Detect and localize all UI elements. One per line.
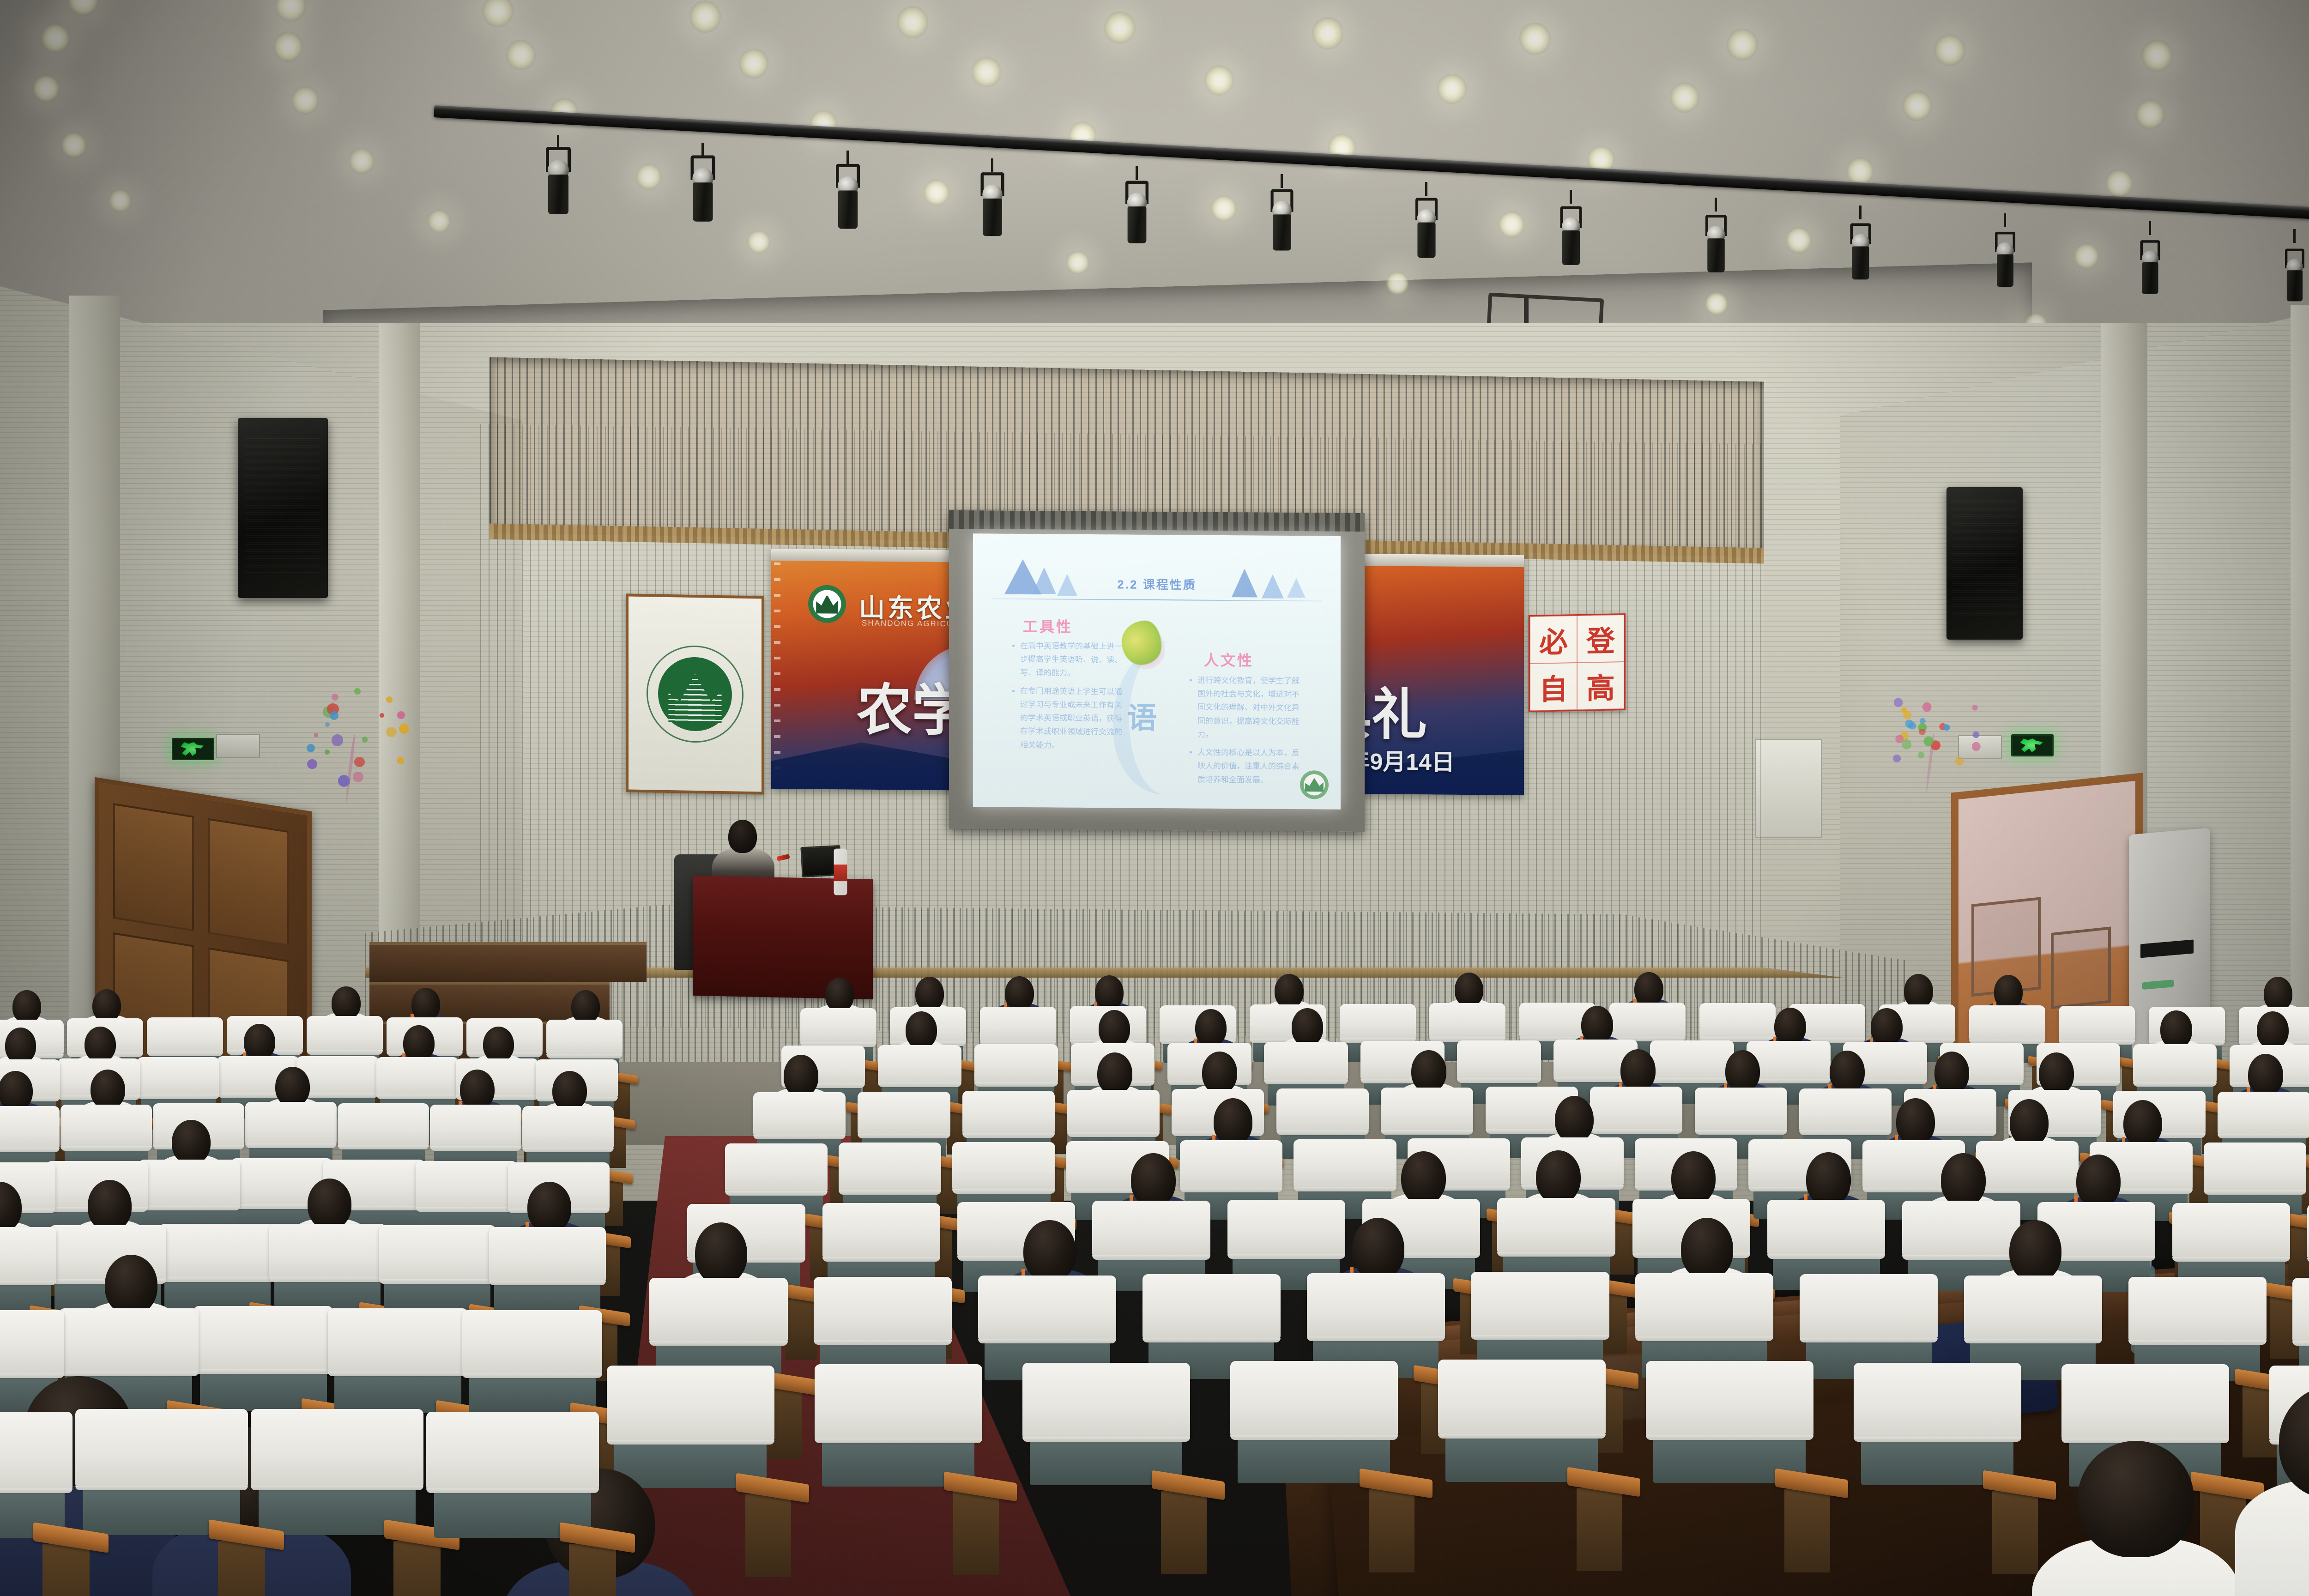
audience-member-head [2010,1099,2049,1146]
stage-spotlight-icon [1995,231,2016,288]
emblem-disc [658,657,732,732]
seat-white-cover [193,1306,333,1371]
recessed-downlight-icon [747,230,770,254]
audience-member-head [1581,1006,1613,1044]
recessed-downlight-icon [1670,82,1699,113]
recessed-downlight-icon [1934,34,1965,66]
seat-white-cover [0,1310,64,1375]
seat-white-cover [1646,1361,1813,1437]
speaker-grille [245,432,321,573]
spotlight-barrel [983,199,1002,236]
auditorium-seat[interactable] [1861,1370,2013,1485]
decorative-wall-art-left [296,683,411,804]
wall-art-dot [1972,705,1978,711]
wall-art-dot [307,759,317,769]
bottle-label [834,864,847,881]
seat-white-cover [269,1224,386,1279]
seat-white-cover [245,1102,337,1145]
audience-member-head [5,1028,36,1064]
auditorium-seat[interactable] [0,1419,65,1538]
wall-art-dot [354,757,365,768]
seat-support-column [1369,1489,1414,1572]
seat-white-cover [649,1278,787,1343]
auditorium-seat[interactable] [259,1416,416,1535]
seat-white-cover [1800,1274,1938,1339]
wall-art-dot [1922,702,1932,712]
recessed-downlight-icon [1211,195,1237,222]
audience-member-head [2257,1011,2289,1049]
audience-member-head [1941,1153,1986,1206]
audience-member-head [527,1182,572,1233]
seat-white-cover [379,1225,496,1281]
wall-art-dot [325,750,330,755]
spotlight-barrel [1997,254,2013,286]
audience-member-head [1411,1050,1446,1092]
audience-member-head [915,977,944,1011]
seat-white-cover [1142,1274,1281,1339]
seat-white-cover [1767,1200,1885,1256]
recessed-downlight-icon [1204,65,1234,96]
spotlight-barrel [838,190,857,229]
seat-white-cover [1429,1003,1505,1039]
emblem-mountain-glyph [816,594,838,613]
seat-white-cover [1227,1200,1345,1256]
door-panel [113,803,194,931]
audience-member-head [85,1027,115,1063]
recessed-downlight-icon [61,132,87,158]
spotlight-barrel [1128,206,1147,243]
seat-support-column [1992,1491,2038,1574]
spotlight-barrel [1707,238,1725,272]
audience-member-head [2039,1052,2074,1094]
audience-member-head [1634,972,1663,1006]
spotlight-barrel [1562,230,1580,265]
seat-white-cover [338,1103,429,1147]
auditorium-seat[interactable] [83,1416,240,1535]
seat-white-cover [2133,1044,2217,1084]
seat-white-cover [878,1045,962,1085]
recessed-downlight-icon [41,23,70,54]
seat-white-cover [1497,1198,1615,1254]
wall-art-dot [1955,757,1964,766]
seat-white-cover [962,1091,1055,1135]
recessed-downlight-icon [2135,99,2165,130]
recessed-downlight-icon [897,6,928,38]
spotlight-hanger [2149,221,2151,235]
audience-member-head [1455,973,1483,1007]
stage-spotlight-icon [690,155,716,223]
seat-white-cover [2218,1092,2309,1136]
spotlight-hanger [1859,206,1862,219]
seat-white-cover [251,1409,423,1487]
audience-member-head [1023,1220,1076,1282]
stage-spotlight-icon [1414,198,1439,260]
seat-white-cover [489,1227,606,1282]
seat-white-cover [60,1105,152,1148]
slide-section-number: 2.2 [1117,577,1138,591]
wall-art-dot [362,737,368,742]
spotlight-hanger [1425,182,1427,196]
seat-white-cover [1457,1040,1541,1080]
seat-white-cover [462,1310,602,1375]
auditorium-seat[interactable] [334,1314,461,1413]
wall-art-dot [332,734,343,746]
recessed-downlight-icon [1104,12,1136,44]
seat-white-cover [1264,1042,1348,1082]
seat-support-column [1577,1488,1622,1571]
auditorium-seat[interactable] [164,1229,271,1313]
spotlight-hanger [2004,213,2006,227]
banner-eyelets [774,562,780,780]
spotlight-barrel [1273,214,1291,250]
spotlight-hanger [991,158,993,172]
audience-member-head [1994,975,2023,1009]
seat-white-cover [1092,1201,1210,1257]
recessed-downlight-icon [2141,40,2173,72]
seat-white-cover [980,1007,1056,1043]
wall-art-dot [397,757,404,764]
stage-spotlight-icon [835,164,861,231]
recessed-downlight-icon [291,86,319,115]
wall-art-dot [314,733,319,738]
audience-member-head [1275,974,1303,1008]
audience-member-head [1830,1051,1865,1093]
seat-white-cover [952,1142,1055,1191]
slide-section-title: 课程性质 [1143,578,1197,592]
stage-spotlight-icon [545,147,572,216]
audience-member-head [1725,1050,1760,1092]
wall-art-dot [1901,707,1907,713]
audience-member-head [1352,1218,1404,1280]
emblem-outer-ring [647,645,743,744]
slide-bullets-left: 在高中英语教学的基础上进一步提高学生英语听、说、读、写、译的能力。 在专门用途英… [1012,639,1123,757]
spotlight-hanger [1281,174,1283,188]
seat-white-cover [607,1366,774,1442]
seat-white-cover [75,1409,248,1487]
audience-member-head [1131,1153,1176,1206]
seat-white-cover [1799,1088,1892,1133]
audience-member-head [411,988,440,1021]
audience-member-head [552,1071,587,1111]
seat-white-cover [1340,1004,1416,1040]
seat-white-cover [2204,1143,2306,1192]
presenter-head [728,820,757,853]
stage-spotlight-icon [1850,223,1872,281]
audience-member-head [1095,975,1124,1010]
recessed-downlight-icon [1903,91,1932,121]
audience-member-head [244,1024,275,1060]
audience-member-head [1005,976,1034,1010]
slide-bullet: 在高中英语教学的基础上进一步提高学生英语听、说、读、写、译的能力。 [1020,639,1123,680]
seat-white-cover [522,1106,614,1149]
presentation-slide: 2.2 课程性质 语 工具性 在高中英语教学的基础上进一步提高学生英语听、说、读… [973,533,1341,810]
seat-white-cover [0,1412,73,1490]
seat-support-column [745,1494,791,1577]
seat-white-cover [1276,1088,1369,1133]
recessed-downlight-icon [924,179,949,206]
recessed-downlight-icon [1312,17,1343,49]
seat-white-cover [1964,1276,2102,1341]
seat-white-cover [2307,1204,2309,1260]
recessed-downlight-icon [636,163,662,190]
recessed-downlight-icon [273,31,303,62]
wall-art-dot [1893,755,1901,762]
spotlight-barrel [2142,262,2158,294]
water-bottle-icon-presenter [834,849,847,895]
seat-white-cover [753,1092,846,1137]
exit-running-man-icon-left [172,738,214,760]
exit-glyph [179,742,207,756]
wall-art-dot [1918,752,1924,758]
seat-white-cover [1294,1139,1396,1189]
ac-vent [2140,940,2194,958]
audience-member-head [403,1025,434,1061]
wall-art-dot [1944,725,1950,731]
audience-member-head [12,990,41,1023]
slide-bullet: 人文性的核心是以人为本，反映人的价值，注重人的综合素质培养和全面发展。 [1197,746,1304,787]
seat-support-column [1784,1489,1830,1572]
audience-member-head [2248,1054,2283,1096]
audience-member-head [2076,1155,2121,1208]
seat-white-cover [725,1143,828,1193]
seat-white-cover [800,1008,876,1044]
stacked-chair-2 [2051,926,2111,1009]
wall-art-dot [1909,722,1916,730]
seat-white-cover [814,1277,952,1342]
slide-heading-left: 工具性 [1023,615,1073,637]
auditorium-seat[interactable] [0,1232,51,1316]
foreground-audience-head [2078,1441,2194,1557]
wall-art-dot [380,713,384,718]
calligraphy-char-3: 高 [1577,662,1624,710]
stage-spotlight-icon [1124,181,1149,245]
slide-heading-right: 人文性 [1204,649,1254,671]
recessed-downlight-icon [689,0,721,33]
audience-member-head [1202,1052,1237,1094]
seat-white-cover [1699,1003,1776,1039]
seat-white-cover [59,1308,199,1373]
sau-emblem-icon [808,585,846,623]
audience-member-head [1536,1150,1581,1203]
seat-white-cover [1438,1360,1606,1436]
calligraphy-char-2: 自 [1530,663,1577,711]
stage-spotlight-icon [1269,189,1294,252]
audience-member-head [460,1070,495,1109]
seat-white-cover [1471,1272,1609,1337]
emblem-terrace-glyph [668,673,721,723]
auditorium-seat[interactable] [1653,1368,1806,1483]
audience-member-head [1195,1009,1227,1047]
seat-white-cover [1976,1141,2079,1191]
screen-top-edge [949,510,1365,532]
audience-member-head [0,1071,33,1111]
recessed-downlight-icon [972,57,1001,87]
wall-art-dot [338,775,350,787]
wall-art-dot [1972,731,1979,738]
seat-white-cover [137,1057,219,1096]
seat-support-column [1161,1491,1207,1574]
seat-support-column [953,1492,999,1575]
decorative-wall-art-right [1884,690,1982,792]
spotlight-hanger [557,135,559,149]
auditorium-seat[interactable] [274,1229,381,1313]
seat-white-cover [1650,1040,1734,1080]
seat-white-cover [328,1308,468,1373]
recessed-downlight-icon [1386,272,1409,295]
stage-spotlight-icon [1559,206,1583,266]
recessed-downlight-icon [1499,211,1524,237]
seat-white-cover [1635,1273,1773,1338]
stage-spotlight-icon [2140,240,2161,296]
auditorium-seat[interactable] [200,1312,327,1411]
recessed-downlight-icon [1437,74,1467,104]
seat-support-column [785,1298,817,1359]
seat-white-cover [159,1224,276,1279]
slide-divider-rule [991,598,1322,602]
wall-art-dot [399,724,409,734]
audience-member-head [571,990,600,1023]
seat-support-column [218,1541,265,1596]
spotlight-hanger [701,143,704,157]
seat-white-cover [139,1160,240,1208]
slide-title: 2.2 课程性质 [973,574,1341,594]
auditorium-seat[interactable] [469,1316,596,1415]
seat-white-cover [307,1016,383,1052]
seat-white-cover [2061,1364,2229,1440]
audience-member-head [1401,1151,1446,1204]
audience-member-head [1806,1152,1851,1205]
wall-art-dot [307,744,315,752]
auditorium-seat[interactable] [384,1230,490,1314]
exit-glyph [2019,738,2046,752]
spotlight-hanger [846,151,849,164]
stage-spotlight-icon [2284,248,2305,302]
seat-white-cover [1902,1201,2020,1257]
audience-member-head [1934,1052,1970,1094]
wall-art-dot [386,696,393,703]
auditorium-seat[interactable] [822,1371,974,1487]
audience-member-head [1555,1096,1594,1143]
seat-white-cover [1854,1363,2021,1439]
wall-control-box-left [216,734,260,758]
audience-member-head [1681,1218,1733,1280]
seat-white-cover [546,1020,623,1056]
audience-member-head [1292,1008,1324,1046]
audience-member-head [92,989,121,1022]
audience-member-head [784,1055,819,1097]
seat-white-cover [147,1017,223,1053]
seat-white-cover [430,1105,521,1148]
seat-white-cover [839,1143,941,1192]
auditorium-seat[interactable] [1445,1366,1598,1482]
spotlight-hanger [1715,198,1717,212]
seat-support-column [2288,1226,2309,1280]
auditorium-seat[interactable] [1030,1370,1182,1485]
spotlight-barrel [1852,246,1869,279]
slide-bullet: 在专门用途英语上学生可以通过学习与专业或未来工作有关的学术英语或职业英语，获得在… [1020,684,1123,753]
spotlight-barrel [693,182,713,221]
recessed-downlight-icon [1846,157,1874,186]
seat-white-cover [0,1106,60,1149]
audience-member-head [2264,977,2292,1011]
seal-mountain-glyph [1305,778,1324,792]
recessed-downlight-icon [428,209,451,233]
calligraphy-watermark: 语 [1127,695,1157,737]
seat-white-cover [376,1057,459,1096]
stage-spotlight-icon [980,172,1005,238]
auditorium-photo-scene: 山东农业大学 SHANDONG AGRICULTURAL UNIVERSITY … [0,0,2309,1596]
auditorium-seat[interactable] [434,1419,591,1538]
audience-member-head [88,1180,132,1231]
audience-member-head [1904,974,1933,1008]
recessed-downlight-icon [349,148,375,174]
recessed-downlight-icon [739,48,768,79]
audience-member-head [1214,1098,1252,1145]
spotlight-hanger [1570,190,1572,204]
seat-white-cover [974,1044,1058,1084]
audience-member-head [308,1179,352,1230]
spotlight-hanger [1136,166,1138,180]
audience-member-head [1871,1008,1903,1046]
seat-white-cover [1969,1005,2045,1041]
seat-white-cover [822,1203,940,1259]
audience-member-head [483,1027,514,1063]
recessed-downlight-icon [2073,243,2099,269]
speaker-grille [1952,499,2017,618]
auditorium-seat[interactable] [1238,1368,1390,1483]
audience-member-head [1896,1098,1935,1145]
wall-art-dot [1901,739,1911,750]
seat-white-cover [858,1092,950,1136]
seat-white-cover [1307,1273,1445,1338]
spotlight-barrel [1417,222,1435,258]
wall-art-dot [354,688,361,695]
seat-white-cover [2128,1277,2267,1342]
wall-service-panel [1755,739,1822,838]
auditorium-seat[interactable] [614,1372,767,1488]
seat-white-cover [2292,1278,2309,1343]
audience-member-head [1099,1010,1130,1048]
wall-art-dot [397,711,405,719]
seat-white-cover [1180,1140,1282,1190]
seat-white-cover [1067,1090,1160,1134]
seat-support-column [393,1541,441,1596]
audience-member-head [906,1011,937,1049]
audience-member-head [275,1067,310,1106]
seat-white-cover [2059,1006,2135,1042]
loudspeaker-icon-right [1946,487,2023,640]
recessed-downlight-icon [32,74,60,103]
recessed-downlight-icon [1519,23,1551,55]
spotlight-barrel [548,175,568,214]
recessed-downlight-icon [1066,251,1089,274]
recessed-downlight-icon [109,189,132,212]
auditorium-seat[interactable] [494,1232,600,1316]
seat-white-cover [2172,1203,2290,1259]
audience-member-head [1620,1049,1656,1091]
wall-art-stem [345,734,356,804]
recessed-downlight-icon [506,40,536,70]
wall-art-dot [332,694,338,701]
audience-member-head [1774,1008,1806,1046]
spotlight-hanger [2293,229,2296,243]
seat-white-cover [426,1412,599,1490]
audience-member-head [105,1255,157,1315]
wall-art-dot [1894,698,1903,707]
spotlight-barrel [2287,270,2303,301]
calligraphy-plaque: 必 登 自 高 [1529,613,1626,712]
audience-member-head [2009,1220,2061,1282]
